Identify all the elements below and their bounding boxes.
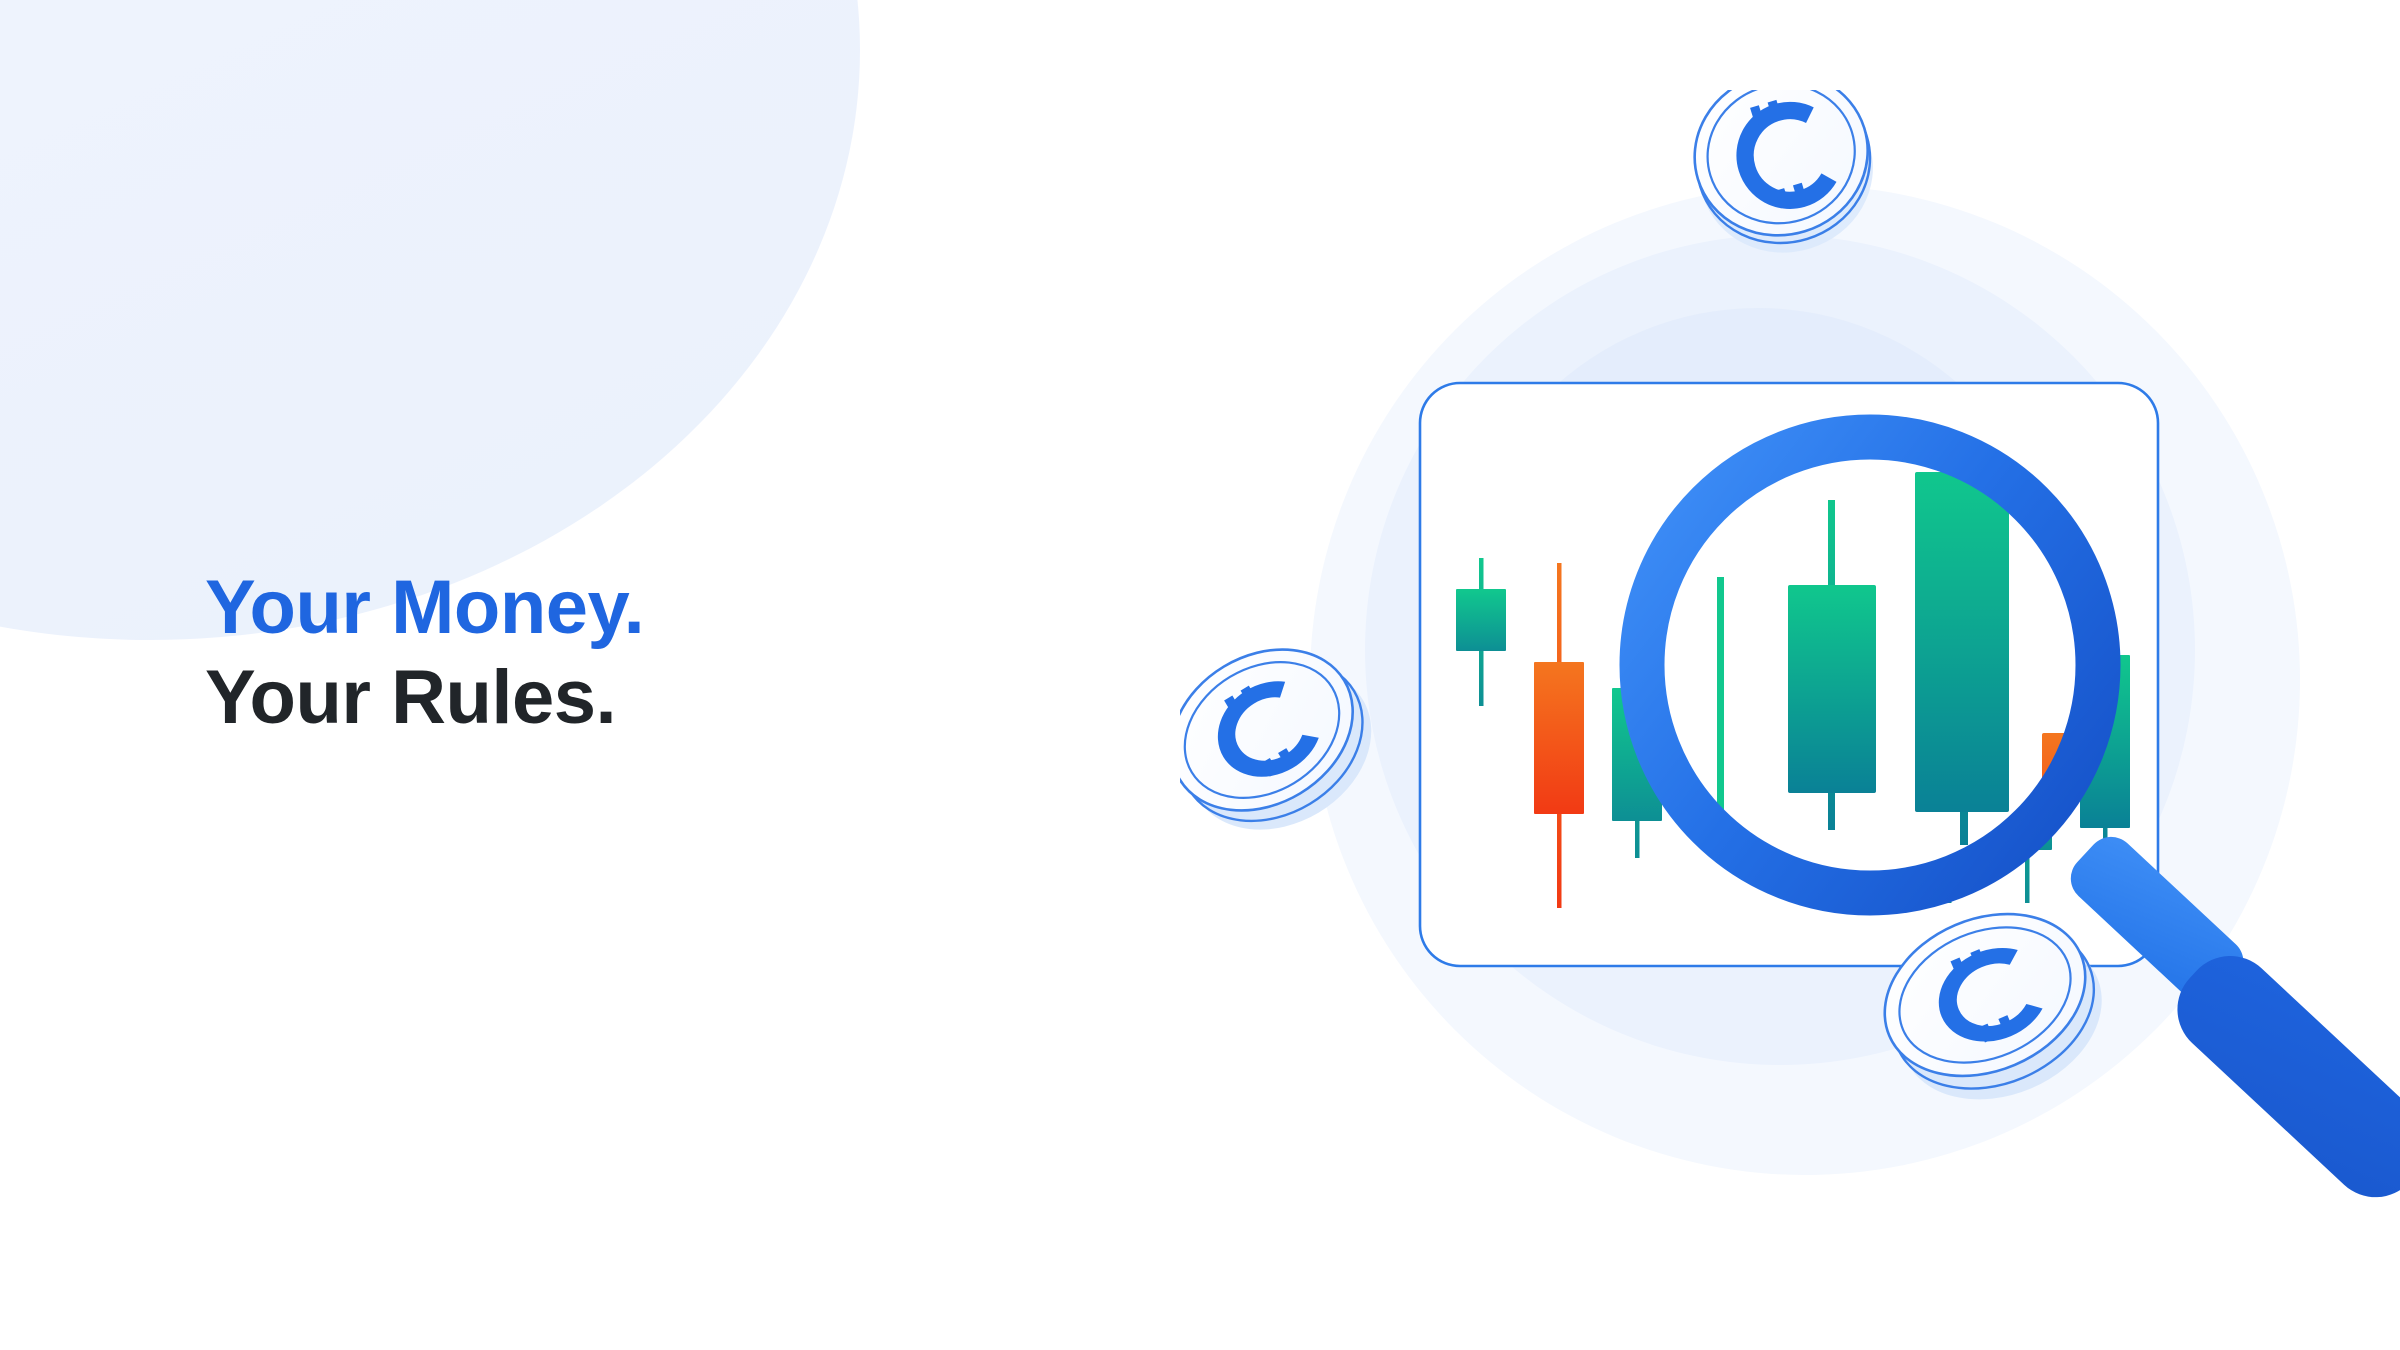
candle-13 [2392, 466, 2400, 771]
magnified-candle-c [1915, 445, 2009, 845]
headline-line-secondary: Your Rules. [205, 653, 965, 743]
hero-illustration [1180, 90, 2400, 1270]
background-blob-left [0, 0, 860, 640]
headline-line-primary: Your Money. [205, 563, 965, 653]
candle-12 [2337, 640, 2342, 860]
hero-banner: Your Money. Your Rules. [0, 0, 2400, 1350]
page-title: Your Money. Your Rules. [205, 563, 965, 742]
